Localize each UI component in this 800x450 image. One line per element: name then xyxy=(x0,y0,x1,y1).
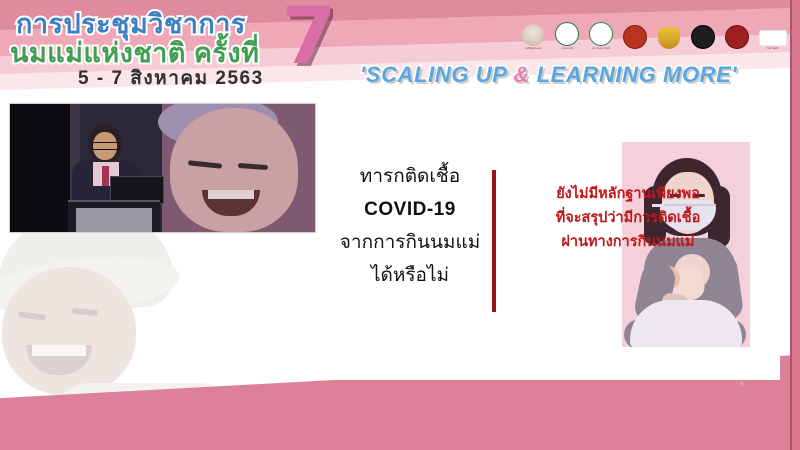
thai-pediatric-society-logo xyxy=(622,20,648,50)
presentation-slide: ทารกติดเชื้อ COVID-19 จากการกินนมแม่ ได้… xyxy=(0,0,800,450)
question-line-4: ได้หรือไม่ xyxy=(330,259,490,292)
answer-line-1: ยังไม่มีหลักฐานเพียงพอ xyxy=(508,182,748,206)
photo-speaker-glasses xyxy=(92,142,120,150)
national-health-foundation-logo xyxy=(690,20,716,50)
question-line-1: ทารกติดเชื้อ xyxy=(330,160,490,193)
photo-baby-teeth xyxy=(208,190,254,199)
watermark-face xyxy=(2,267,136,395)
dark-seal-icon xyxy=(691,25,715,49)
department-of-health-logo: สถาบันสุขภาพเด็ก xyxy=(588,20,614,50)
vertical-divider xyxy=(492,170,496,312)
logo-caption: Thai Health xyxy=(767,47,779,50)
photo-projection-screen xyxy=(162,104,315,232)
logo-caption: กรมอนามัย xyxy=(561,47,572,50)
slide-right-frame-line xyxy=(790,0,792,450)
conference-edition-number: 7 xyxy=(282,0,336,76)
tagline-prefix: 'SCALING UP xyxy=(360,62,513,87)
tagline-suffix: LEARNING MORE' xyxy=(530,62,737,87)
caduceus-icon xyxy=(589,22,613,46)
logo-caption: สถาบันสุขภาพเด็ก xyxy=(592,47,610,50)
logo-caption: มูลนิธิศูนย์นมแม่ xyxy=(525,47,542,50)
royal-seal-icon xyxy=(623,25,647,49)
ministry-of-public-health-logo: กรมอนามัย xyxy=(554,20,580,50)
conference-tagline: 'SCALING UP & LEARNING MORE' xyxy=(360,62,737,88)
tagline-ampersand: & xyxy=(513,62,530,87)
thaihealth-icon xyxy=(759,30,787,46)
conference-date: 5 - 7 สิงหาคม 2563 xyxy=(78,63,264,93)
royal-crest-icon xyxy=(658,27,680,49)
question-text-block: ทารกติดเชื้อ COVID-19 จากการกินนมแม่ ได้… xyxy=(330,160,490,292)
partner-logos: มูลนิธิศูนย์นมแม่ กรมอนามัย สถาบันสุขภาพ… xyxy=(520,20,788,50)
thai-red-cross-logo xyxy=(724,20,750,50)
answer-line-3: ผ่านทางการกินนมแม่ xyxy=(508,230,748,254)
page-number: 6 xyxy=(740,381,744,388)
thai-health-sso-logo: Thai Health xyxy=(758,20,788,50)
red-seal-icon xyxy=(725,25,749,49)
royal-college-logo xyxy=(656,20,682,50)
photo-speaker-tie xyxy=(102,166,109,186)
photo-podium-base xyxy=(76,208,152,232)
caduceus-icon xyxy=(555,22,579,46)
blanket xyxy=(630,300,742,347)
royal-patronage-emblem-logo: มูลนิธิศูนย์นมแม่ xyxy=(520,20,546,50)
question-line-3: จากการกินนมแม่ xyxy=(330,226,490,259)
royal-patronage-emblem-icon xyxy=(522,24,544,46)
conference-presenter-photo xyxy=(9,103,316,233)
content-panel: ทารกติดเชื้อ COVID-19 จากการกินนมแม่ ได้… xyxy=(322,112,780,380)
question-line-2: COVID-19 xyxy=(330,193,490,226)
answer-line-2: ที่จะสรุปว่ามีการติดเชื้อ xyxy=(508,206,748,230)
answer-text-block: ยังไม่มีหลักฐานเพียงพอ ที่จะสรุปว่ามีการ… xyxy=(508,182,748,254)
watermark-teeth xyxy=(32,345,86,356)
